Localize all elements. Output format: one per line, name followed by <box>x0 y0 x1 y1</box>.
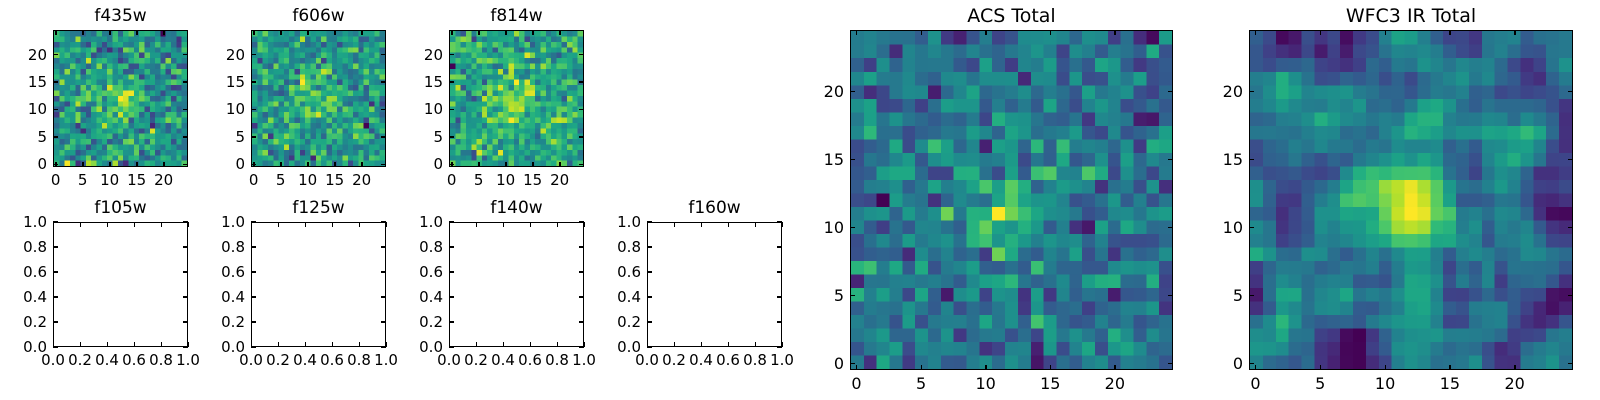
ytick-mark <box>53 271 58 272</box>
ytick-mark <box>850 159 855 160</box>
ytick-label: 5 <box>383 128 443 146</box>
ytick-mark-right <box>777 346 782 347</box>
ytick-label: 15 <box>185 73 245 91</box>
ytick-mark <box>449 164 454 165</box>
xtick-mark-top <box>503 222 504 227</box>
xtick-mark-top <box>1514 30 1515 35</box>
xtick-mark <box>557 342 558 347</box>
ytick-mark <box>53 164 58 165</box>
ytick-label: 0 <box>383 155 443 173</box>
ytick-mark <box>251 54 256 55</box>
xtick-mark <box>161 342 162 347</box>
ytick-label: 0 <box>185 155 245 173</box>
plot-area-f435w[interactable] <box>53 30 188 167</box>
xtick-mark <box>332 342 333 347</box>
ytick-mark-right <box>579 81 584 82</box>
ytick-label: 0.8 <box>185 238 245 256</box>
xtick-mark <box>1050 365 1051 370</box>
ytick-mark <box>1249 91 1254 92</box>
xtick-mark-top <box>332 222 333 227</box>
xtick-label: 15 <box>1420 374 1480 393</box>
ytick-label: 0 <box>0 155 47 173</box>
ytick-label: 0 <box>1183 354 1243 373</box>
ytick-mark <box>1249 227 1254 228</box>
plot-area-f814w[interactable] <box>449 30 584 167</box>
ytick-mark <box>53 54 58 55</box>
xtick-label: 20 <box>1085 374 1145 393</box>
panel-title-f160w: f160w <box>647 197 782 219</box>
xtick-mark <box>109 162 110 167</box>
xtick-label: 0 <box>1225 374 1285 393</box>
xtick-mark <box>136 162 137 167</box>
ytick-mark <box>647 296 652 297</box>
ytick-label: 10 <box>383 100 443 118</box>
ytick-mark <box>449 246 454 247</box>
panel-title-f140w: f140w <box>449 197 584 219</box>
xtick-mark-top <box>107 222 108 227</box>
ytick-mark <box>449 346 454 347</box>
ytick-mark <box>449 271 454 272</box>
xtick-mark-top <box>755 222 756 227</box>
ytick-mark <box>251 221 256 222</box>
ytick-mark-right <box>777 271 782 272</box>
ytick-mark <box>251 246 256 247</box>
ytick-mark <box>647 271 652 272</box>
ytick-label: 0.0 <box>383 338 443 356</box>
ytick-mark <box>449 296 454 297</box>
ytick-mark <box>850 295 855 296</box>
ytick-label: 0.6 <box>185 263 245 281</box>
ytick-label: 5 <box>784 286 844 305</box>
ytick-label: 0.0 <box>0 338 47 356</box>
ytick-label: 20 <box>784 82 844 101</box>
ytick-mark-right <box>1568 363 1573 364</box>
xtick-label: 0 <box>826 374 886 393</box>
xtick-label: 20 <box>134 171 194 189</box>
xtick-mark-top <box>280 30 281 35</box>
ytick-mark-right <box>777 246 782 247</box>
plot-area-f140w[interactable] <box>449 222 584 347</box>
xtick-label: 5 <box>1290 374 1350 393</box>
ytick-mark <box>647 346 652 347</box>
xtick-mark <box>80 342 81 347</box>
xtick-mark <box>359 342 360 347</box>
ytick-label: 10 <box>1183 218 1243 237</box>
xtick-mark-top <box>161 222 162 227</box>
ytick-label: 5 <box>0 128 47 146</box>
ytick-label: 1.0 <box>581 213 641 231</box>
ytick-label: 0.4 <box>383 288 443 306</box>
xtick-mark-top <box>1050 30 1051 35</box>
plot-area-acs-total[interactable] <box>850 30 1173 370</box>
xtick-mark-top <box>782 222 783 227</box>
xtick-mark-top <box>359 222 360 227</box>
ytick-mark <box>251 321 256 322</box>
ytick-mark <box>251 81 256 82</box>
ytick-mark-right <box>777 296 782 297</box>
xtick-mark-top <box>530 222 531 227</box>
ytick-mark <box>53 246 58 247</box>
panel-title-wfc3-ir-total: WFC3 IR Total <box>1249 5 1573 27</box>
xtick-mark-top <box>1114 30 1115 35</box>
ytick-mark <box>850 363 855 364</box>
xtick-mark-top <box>1320 30 1321 35</box>
panel-title-f606w: f606w <box>251 5 386 27</box>
ytick-label: 0.2 <box>185 313 245 331</box>
plot-area-wfc3-ir-total[interactable] <box>1249 30 1573 370</box>
ytick-mark <box>449 221 454 222</box>
ytick-label: 0.4 <box>185 288 245 306</box>
plot-area-f606w[interactable] <box>251 30 386 167</box>
panel-title-f814w: f814w <box>449 5 584 27</box>
ytick-label: 0.6 <box>0 263 47 281</box>
ytick-label: 20 <box>185 46 245 64</box>
ytick-label: 0.2 <box>0 313 47 331</box>
xtick-mark <box>728 342 729 347</box>
ytick-mark <box>647 321 652 322</box>
xtick-mark-top <box>476 222 477 227</box>
xtick-mark-top <box>307 30 308 35</box>
ytick-mark-right <box>1168 227 1173 228</box>
xtick-mark-top <box>449 222 450 227</box>
xtick-mark-top <box>109 30 110 35</box>
xtick-mark-top <box>134 222 135 227</box>
ytick-mark <box>251 346 256 347</box>
xtick-mark-top <box>985 30 986 35</box>
xtick-mark <box>1114 365 1115 370</box>
xtick-mark <box>505 162 506 167</box>
ytick-mark <box>53 81 58 82</box>
xtick-label: 20 <box>1485 374 1545 393</box>
xtick-mark-top <box>451 30 452 35</box>
ytick-mark <box>53 136 58 137</box>
ytick-mark <box>53 221 58 222</box>
ytick-label: 15 <box>383 73 443 91</box>
ytick-label: 15 <box>0 73 47 91</box>
xtick-mark <box>307 162 308 167</box>
xtick-mark <box>674 342 675 347</box>
ytick-label: 0.6 <box>581 263 641 281</box>
xtick-mark-top <box>1385 30 1386 35</box>
ytick-mark <box>647 246 652 247</box>
xtick-mark <box>1255 365 1256 370</box>
ytick-label: 0.8 <box>383 238 443 256</box>
xtick-mark <box>134 342 135 347</box>
ytick-mark <box>251 136 256 137</box>
xtick-mark-top <box>253 30 254 35</box>
xtick-mark <box>478 162 479 167</box>
ytick-mark-right <box>579 54 584 55</box>
ytick-mark <box>1249 295 1254 296</box>
plot-area-f125w[interactable] <box>251 222 386 347</box>
xtick-mark <box>559 162 560 167</box>
ytick-label: 0.2 <box>383 313 443 331</box>
xtick-mark <box>82 162 83 167</box>
ytick-label: 0.6 <box>383 263 443 281</box>
xtick-label: 15 <box>1020 374 1080 393</box>
xtick-mark <box>701 342 702 347</box>
ytick-mark <box>1249 159 1254 160</box>
panel-title-acs-total: ACS Total <box>850 5 1173 27</box>
xtick-mark <box>1320 365 1321 370</box>
panel-title-f105w: f105w <box>53 197 188 219</box>
ytick-mark <box>251 109 256 110</box>
xtick-mark-top <box>701 222 702 227</box>
ytick-mark-right <box>579 136 584 137</box>
xtick-mark-top <box>53 222 54 227</box>
ytick-mark <box>449 109 454 110</box>
ytick-label: 0.0 <box>185 338 245 356</box>
xtick-mark-top <box>478 30 479 35</box>
xtick-mark <box>107 342 108 347</box>
xtick-mark <box>856 365 857 370</box>
ytick-mark <box>53 346 58 347</box>
ytick-mark-right <box>1168 91 1173 92</box>
xtick-mark-top <box>505 30 506 35</box>
ytick-mark-right <box>1568 91 1573 92</box>
ytick-mark <box>251 271 256 272</box>
xtick-mark-top <box>557 222 558 227</box>
ytick-mark <box>251 164 256 165</box>
ytick-mark-right <box>1168 159 1173 160</box>
ytick-mark-right <box>1568 295 1573 296</box>
ytick-mark <box>449 321 454 322</box>
ytick-mark <box>850 91 855 92</box>
xtick-mark <box>985 365 986 370</box>
xtick-mark-top <box>82 30 83 35</box>
panel-title-f125w: f125w <box>251 197 386 219</box>
xtick-mark <box>532 162 533 167</box>
ytick-label: 1.0 <box>0 213 47 231</box>
ytick-mark <box>251 296 256 297</box>
ytick-label: 1.0 <box>185 213 245 231</box>
xtick-mark <box>1385 365 1386 370</box>
xtick-mark-top <box>856 30 857 35</box>
xtick-mark <box>280 162 281 167</box>
xtick-mark-top <box>136 30 137 35</box>
ytick-label: 0.0 <box>581 338 641 356</box>
ytick-mark <box>449 81 454 82</box>
ytick-mark-right <box>777 221 782 222</box>
xtick-mark <box>1514 365 1515 370</box>
xtick-mark <box>530 342 531 347</box>
ytick-mark <box>53 296 58 297</box>
ytick-label: 0.2 <box>581 313 641 331</box>
xtick-mark-top <box>334 30 335 35</box>
xtick-mark-top <box>361 30 362 35</box>
ytick-label: 0.8 <box>0 238 47 256</box>
xtick-mark-top <box>251 222 252 227</box>
ytick-label: 10 <box>784 218 844 237</box>
xtick-mark <box>278 342 279 347</box>
ytick-mark <box>647 221 652 222</box>
xtick-label: 20 <box>530 171 590 189</box>
ytick-mark-right <box>579 109 584 110</box>
xtick-mark <box>361 162 362 167</box>
ytick-mark <box>850 227 855 228</box>
ytick-label: 5 <box>1183 286 1243 305</box>
xtick-mark <box>305 342 306 347</box>
ytick-label: 15 <box>1183 150 1243 169</box>
xtick-mark <box>163 162 164 167</box>
ytick-mark <box>53 321 58 322</box>
xtick-mark-top <box>163 30 164 35</box>
xtick-mark-top <box>921 30 922 35</box>
ytick-mark-right <box>1568 159 1573 160</box>
ytick-label: 0.4 <box>0 288 47 306</box>
xtick-mark-top <box>532 30 533 35</box>
xtick-mark <box>503 342 504 347</box>
ytick-label: 0 <box>784 354 844 373</box>
plot-area-f105w[interactable] <box>53 222 188 347</box>
xtick-mark <box>755 342 756 347</box>
xtick-mark-top <box>80 222 81 227</box>
ytick-label: 20 <box>383 46 443 64</box>
ytick-label: 5 <box>185 128 245 146</box>
plot-area-f160w[interactable] <box>647 222 782 347</box>
ytick-mark <box>53 109 58 110</box>
ytick-label: 20 <box>1183 82 1243 101</box>
xtick-mark-top <box>647 222 648 227</box>
xtick-mark-top <box>559 30 560 35</box>
xtick-label: 5 <box>891 374 951 393</box>
xtick-label: 20 <box>332 171 392 189</box>
ytick-label: 0.8 <box>581 238 641 256</box>
ytick-label: 10 <box>185 100 245 118</box>
ytick-label: 20 <box>0 46 47 64</box>
ytick-mark <box>1249 363 1254 364</box>
ytick-mark-right <box>1168 363 1173 364</box>
xtick-mark <box>1449 365 1450 370</box>
panel-title-f435w: f435w <box>53 5 188 27</box>
xtick-mark-top <box>305 222 306 227</box>
ytick-label: 15 <box>784 150 844 169</box>
xtick-mark <box>921 365 922 370</box>
xtick-mark <box>334 162 335 167</box>
ytick-mark <box>449 136 454 137</box>
ytick-mark <box>449 54 454 55</box>
xtick-mark-top <box>674 222 675 227</box>
xtick-mark-top <box>1449 30 1450 35</box>
xtick-mark-top <box>278 222 279 227</box>
ytick-mark-right <box>777 321 782 322</box>
ytick-label: 10 <box>0 100 47 118</box>
ytick-mark-right <box>1568 227 1573 228</box>
xtick-mark-top <box>728 222 729 227</box>
xtick-label: 10 <box>1355 374 1415 393</box>
ytick-label: 1.0 <box>383 213 443 231</box>
ytick-label: 0.4 <box>581 288 641 306</box>
xtick-mark-top <box>1255 30 1256 35</box>
ytick-mark-right <box>1168 295 1173 296</box>
xtick-mark <box>476 342 477 347</box>
xtick-mark-top <box>55 30 56 35</box>
ytick-mark-right <box>579 164 584 165</box>
xtick-label: 10 <box>956 374 1016 393</box>
